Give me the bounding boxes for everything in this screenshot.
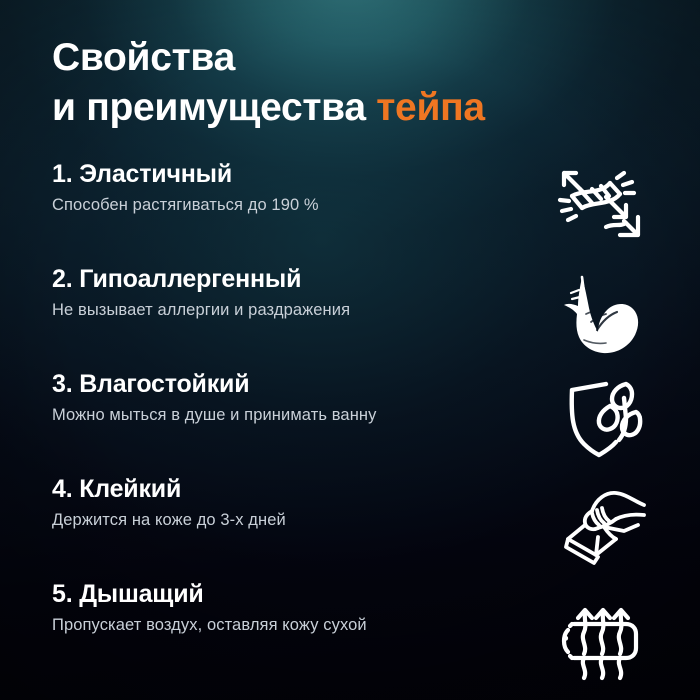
feature-text-block: 2. Гипоаллергенный Не вызывает аллергии … <box>52 265 522 321</box>
title-line-2: и преимущества тейпа <box>52 83 652 133</box>
hand-applying-tape-icon <box>548 477 652 575</box>
feature-list: 1. Эластичный Способен растягиваться до … <box>0 160 700 685</box>
feather-icon <box>548 266 652 364</box>
feature-subtitle: Пропускает воздух, оставляя кожу сухой <box>52 616 522 636</box>
feature-title: 1. Эластичный <box>52 160 522 188</box>
feature-subtitle: Можно мыться в душе и принимать ванну <box>52 406 522 426</box>
title-line-1: Свойства <box>52 33 652 83</box>
title-line-2-prefix: и преимущества <box>52 86 376 129</box>
stretch-arrows-icon <box>548 162 652 260</box>
feature-text-block: 4. Клейкий Держится на коже до 3-х дней <box>52 475 522 531</box>
feature-title: 4. Клейкий <box>52 475 522 503</box>
list-item: 3. Влагостойкий Можно мыться в душе и пр… <box>0 370 700 475</box>
feature-subtitle: Держится на коже до 3-х дней <box>52 511 522 531</box>
list-item: 5. Дышащий Пропускает воздух, оставляя к… <box>0 580 700 685</box>
feature-title: 5. Дышащий <box>52 580 522 608</box>
title-accent-word: тейпа <box>376 86 485 129</box>
list-item: 2. Гипоаллергенный Не вызывает аллергии … <box>0 265 700 370</box>
poster-content: Свойства и преимущества тейпа 1. Эластич… <box>0 0 700 700</box>
feature-title: 3. Влагостойкий <box>52 370 522 398</box>
list-item: 4. Клейкий Держится на коже до 3-х дней <box>0 475 700 580</box>
feature-title: 2. Гипоаллергенный <box>52 265 522 293</box>
feature-subtitle: Не вызывает аллергии и раздражения <box>52 301 522 321</box>
feature-subtitle: Способен растягиваться до 190 % <box>52 196 522 216</box>
feature-text-block: 1. Эластичный Способен растягиваться до … <box>52 160 522 216</box>
feature-text-block: 5. Дышащий Пропускает воздух, оставляя к… <box>52 580 522 636</box>
list-item: 1. Эластичный Способен растягиваться до … <box>0 160 700 265</box>
page-title: Свойства и преимущества тейпа <box>52 33 652 132</box>
breathable-airflow-icon <box>548 586 652 684</box>
poster-canvas: Свойства и преимущества тейпа 1. Эластич… <box>0 0 700 700</box>
shield-water-drops-icon <box>548 369 652 467</box>
feature-text-block: 3. Влагостойкий Можно мыться в душе и пр… <box>52 370 522 426</box>
